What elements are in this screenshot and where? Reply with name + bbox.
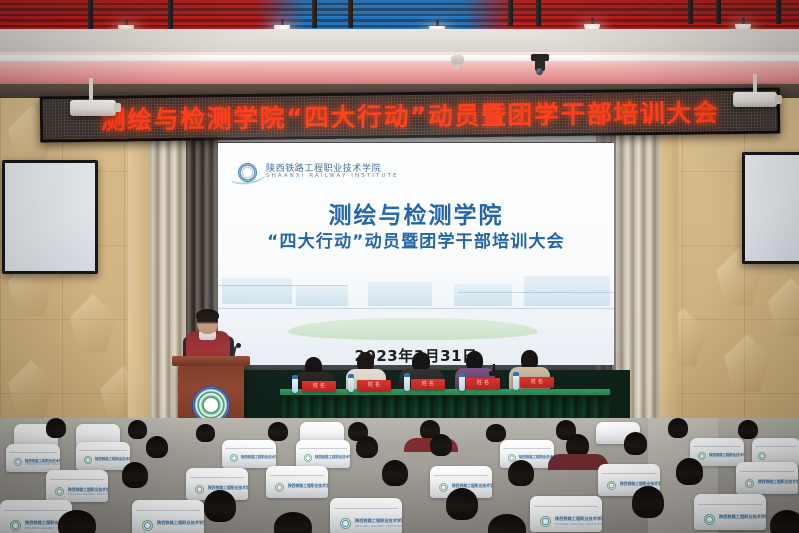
podium-top [172,356,250,366]
projector-mount-stem [753,74,757,94]
smoke-detector-icon [451,55,464,66]
audience-head [738,420,758,439]
nameplate: 姓 名 [466,378,500,389]
campus-building [454,284,512,306]
water-bottle [348,377,354,392]
chair-logo-text: 陕西铁路工程职业技术学院 [620,481,660,487]
wall-pilaster [128,98,150,438]
chair-logo-icon [340,518,351,529]
water-bottle-cap [513,372,519,376]
chair-logo-icon [14,458,22,466]
security-camera-lens [536,68,543,75]
podium-microphone [236,343,241,348]
audience-head [274,512,312,533]
truss-leg [312,0,317,28]
school-logo-english: SHAANXI RAILWAY INSTITUTE [266,173,399,179]
audience-chair: 陕西铁路工程职业技术学院 SHAANXI RAILWAY INSTITUTE [330,498,402,533]
water-bottle [404,376,410,391]
audience-chair: 陕西铁路工程职业技术学院 [76,442,130,470]
chair-seam [503,448,551,449]
nameplate-text: 姓 名 [520,378,554,385]
chair-seam [190,477,245,478]
nameplate: 姓 名 [411,379,445,390]
led-banner-text: 测绘与检测学院“四大行动”动员暨团学干部培训大会 [43,93,777,138]
chair-logo-icon [10,520,21,531]
water-bottle [513,375,519,390]
left-wall-monitor-screen [5,163,95,271]
chair-logo-subtext: SHAANXI RAILWAY INSTITUTE [25,463,60,466]
audience-head [268,422,288,441]
chair-seam [299,448,347,449]
audience-head [146,436,168,458]
slide-campus-illustration [218,272,614,344]
chair-logo-icon [230,454,238,462]
chair-logo-text: 陕西铁路工程职业技术学院 [758,479,798,485]
chair-logo-icon [55,487,64,496]
chair-logo-subtext: SHAANXI RAILWAY INSTITUTE [68,493,108,496]
campus-building [296,286,348,306]
left-wall-monitor [2,160,98,274]
campus-building [368,282,432,306]
truss-leg [508,0,513,26]
chair-seam [136,510,199,511]
nameplate-text: 姓 名 [357,381,391,388]
chair-logo-icon [607,481,616,490]
chair-logo-icon [540,516,551,527]
audience-head [46,418,66,438]
audience-head [204,490,236,522]
truss-leg [348,0,353,28]
nameplate: 姓 名 [357,380,391,391]
truss-leg [88,0,93,30]
audience-chair: 陕西铁路工程职业技术学院 SHAANXI RAILWAY INSTITUTE [6,444,60,472]
audience-head [58,510,96,533]
chair-logo-text: 陕西铁路工程职业技术学院 [241,454,276,459]
chair-seam [270,475,325,476]
chair-logo-text: 陕西铁路工程职业技术学院 [157,520,204,526]
audience-chair: 陕西铁路工程职业技术学院 SHAANXI RAILWAY INSTITUTE [46,470,108,502]
truss-leg [776,0,781,24]
chair-logo-text: 陕西铁路工程职业技术学院 [719,514,766,520]
chair-seam [698,504,761,505]
campus-groundline [218,308,614,309]
audience-head [446,488,478,520]
audience-head [676,458,703,485]
audience-chair: 陕西铁路工程职业技术学院 [736,462,798,494]
chair-logo-subtext: SHAANXI RAILWAY INSTITUTE [355,524,402,528]
chair-logo-icon [439,483,448,492]
chair-seam [534,506,597,507]
chair-seam [225,448,273,449]
table-microphone [489,371,499,376]
chair-seam [602,473,657,474]
campus-floorline [458,292,614,293]
water-bottle-cap [404,373,410,377]
water-bottle-cap [292,375,298,379]
projector-mount-stem [89,78,93,102]
truss-leg [168,0,173,30]
chair-seam [4,510,67,511]
truss-leg [688,0,693,24]
nameplate: 姓 名 [302,381,336,392]
audience-chair: 陕西铁路工程职业技术学院 [694,494,766,530]
audience-head [488,514,526,533]
chair-seam [79,450,127,451]
audience-head [122,462,148,488]
audience-chair: 陕西铁路工程职业技术学院 [266,466,328,498]
audience-head [632,486,664,518]
water-bottle-cap [348,374,354,378]
chair-logo-text: 陕西铁路工程职业技术学院 [315,454,350,459]
water-bottle [459,376,465,391]
ceiling-projector-right [733,92,777,107]
audience-head [196,424,215,442]
audience-area: 陕西铁路工程职业技术学院 SHAANXI RAILWAY INSTITUTE 陕… [0,418,799,533]
water-bottle [292,378,298,393]
chair-seam [334,508,397,509]
water-bottle-cap [459,373,465,377]
audience-head [508,460,534,486]
audience-head [356,436,378,458]
school-logo-mark [238,163,257,182]
chair-logo-icon [745,479,754,488]
audience-head [770,510,799,533]
chair-seam [693,446,741,447]
slide-title: 测绘与检测学院 [218,196,614,230]
led-banner: 测绘与检测学院“四大行动”动员暨团学干部培训大会 [40,87,781,142]
chair-logo-text: 陕西铁路工程职业技术学院 [288,483,328,489]
chair-seam [434,475,489,476]
slide-subtitle: “四大行动”动员暨团学干部培训大会 [218,227,614,252]
audience-chair: 陕西铁路工程职业技术学院 [296,440,350,468]
right-wall-monitor [742,152,799,264]
chair-seam [740,471,795,472]
chair-logo-text: 陕西铁路工程职业技术学院 [709,452,744,457]
audience-chair: 陕西铁路工程职业技术学院 [222,440,276,468]
truss-leg [536,0,541,26]
chair-seam [50,479,105,480]
chair-logo-icon [275,483,284,492]
chair-seam [9,452,57,453]
chair-logo-icon [195,485,204,494]
chair-logo-text: 陕西铁路工程职业技术学院 [95,456,130,461]
chair-logo-icon [142,520,153,531]
chair-logo-icon [304,454,312,462]
chair-seam [755,446,797,447]
chair-logo-text: 陕西铁路工程职业技术学院 [519,454,554,459]
campus-lawn [288,318,538,340]
nameplate-text: 姓 名 [302,382,336,389]
photo-scene: 测绘与检测学院“四大行动”动员暨团学干部培训大会 陕西铁路工程职业技术学院 SH… [0,0,799,533]
nameplate-text: 姓 名 [466,379,500,386]
nameplate-text: 姓 名 [411,380,445,387]
ceiling-projector-left [70,100,116,116]
chair-logo-icon [698,452,706,460]
audience-chair: 陕西铁路工程职业技术学院 [132,500,204,533]
nameplate: 姓 名 [520,377,554,388]
truss-leg [716,0,721,24]
right-wall-monitor-screen [745,155,799,261]
campus-building [524,276,610,306]
audience-head [128,420,147,439]
audience-head [430,434,452,456]
chair-logo-icon [84,456,92,464]
audience-head [624,432,647,455]
audience-chair: 陕西铁路工程职业技术学院 SHAANXI RAILWAY INSTITUTE [530,496,602,532]
campus-floorline [218,285,348,286]
campus-building [222,278,292,304]
audience-head [382,460,408,486]
speaker-hair [196,309,219,322]
chair-logo-subtext: SHAANXI RAILWAY INSTITUTE [555,522,602,526]
ceiling-light-tube [0,55,799,61]
audience-head [486,424,506,442]
chair-logo-icon [704,514,715,525]
chair-logo-icon [758,452,766,460]
audience-head [668,418,688,438]
